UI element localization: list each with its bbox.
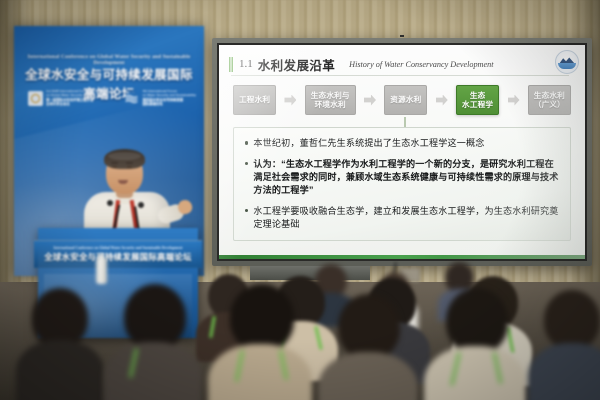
bullet-dot-icon xyxy=(245,162,248,165)
bullet-dot-icon xyxy=(245,141,248,144)
flow-box-4-line-1: 生态 xyxy=(470,91,486,100)
slide-bullet-2: 认为：“生态水工程学作为水利工程学的一个新的分支，是研究水利工程在满足社会需求的… xyxy=(245,158,559,197)
flow-box-5-line-1: 生态水利 xyxy=(534,91,565,100)
slide-section-number: 1.1 xyxy=(239,58,253,70)
standee-logo-row: 1st IAHR International Conference on Glo… xyxy=(28,84,196,112)
podium-name-plate: International Conference on Global Water… xyxy=(34,240,202,268)
flow-box-5: 生态水利 （广义） xyxy=(528,85,571,115)
slide-accent-bottom-bar xyxy=(219,255,585,259)
emblem-water-shape xyxy=(558,63,576,69)
logo1-cn2: 全球水安全会议 xyxy=(46,102,96,107)
flow-arrow-3-icon xyxy=(436,95,448,106)
wave-globe-icon xyxy=(124,91,139,106)
conference-photo: International Conference on Global Water… xyxy=(0,0,600,400)
microphone-head-right xyxy=(138,202,144,208)
flow-arrow-4-icon xyxy=(508,95,520,106)
slide-bullet-1-text: 本世纪初，董哲仁先生系统提出了生态水工程学这一概念 xyxy=(253,137,484,150)
podium-english-title: International Conference on Global Water… xyxy=(53,246,182,250)
flow-box-2: 生态水利与 环境水利 xyxy=(305,85,356,115)
microphone-head-left xyxy=(107,200,113,206)
slide-title: 1.1 水利发展沿革 History of Water Conservancy … xyxy=(229,53,543,75)
slide-bullet-3: 水工程学要吸收融合生态学，建立和发展生态水工程学，为生态水利研究奠定理论基础 xyxy=(245,205,559,231)
flow-box-4-line-2: 水工程学 xyxy=(462,100,493,109)
speaker-brow-right xyxy=(126,162,133,164)
display-inner-bezel: 1.1 水利发展沿革 History of Water Conservancy … xyxy=(217,43,587,261)
presentation-slide: 1.1 水利发展沿革 History of Water Conservancy … xyxy=(219,45,585,259)
flow-box-5-line-2: （广义） xyxy=(534,100,565,109)
square-emblem-icon xyxy=(28,91,43,106)
development-flow-diagram: 工程水利 生态水利与 环境水利 资源水利 生态 水工程学 xyxy=(233,83,571,117)
standee-logo-1: 1st IAHR International Conference on Glo… xyxy=(28,89,96,107)
podium-front-panel xyxy=(44,274,192,338)
title-accent-bar xyxy=(229,57,234,72)
wall-display: 1.1 水利发展沿革 History of Water Conservancy … xyxy=(212,38,592,266)
logo2-en2: on Water Security and Sustainability xyxy=(142,93,196,97)
flow-box-3-line-1: 资源水利 xyxy=(390,95,421,104)
logo2-cn2: 国际高端论坛 xyxy=(142,102,196,107)
standee-logo-1-text: 1st IAHR International Conference on Glo… xyxy=(46,89,96,107)
slide-bullet-2-text: 认为：“生态水工程学作为水利工程学的一个新的分支，是研究水利工程在满足社会需求的… xyxy=(253,158,559,197)
slide-bullet-3-text: 水工程学要吸收融合生态学，建立和发展生态水工程学，为生态水利研究奠定理论基础 xyxy=(253,205,559,231)
slide-bullet-1: 本世纪初，董哲仁先生系统提出了生态水工程学这一概念 xyxy=(245,137,559,150)
flow-box-2-line-2: 环境水利 xyxy=(315,100,346,109)
slide-title-english: History of Water Conservancy Development xyxy=(349,60,493,69)
wall-outlet xyxy=(400,268,420,282)
title-divider xyxy=(231,75,569,76)
mountain-water-emblem-icon xyxy=(555,50,579,74)
flow-box-1-line-1: 工程水利 xyxy=(239,95,270,104)
flow-arrow-2-icon xyxy=(364,95,376,106)
slide-title-chinese: 水利发展沿革 xyxy=(258,55,335,74)
flow-box-3: 资源水利 xyxy=(384,85,427,115)
water-bottle xyxy=(96,258,107,284)
speaker-brow-left xyxy=(111,162,118,164)
speaker-podium: International Conference on Global Water… xyxy=(38,228,198,338)
flow-connector-line xyxy=(404,117,405,127)
flow-box-2-line-1: 生态水利与 xyxy=(311,91,350,100)
slide-content-panel: 本世纪初，董哲仁先生系统提出了生态水工程学这一概念 认为：“生态水工程学作为水利… xyxy=(233,127,571,241)
speaker-eye-right xyxy=(127,166,132,168)
speaker-eye-left xyxy=(112,166,117,168)
flow-box-4-highlighted: 生态 水工程学 xyxy=(456,85,499,115)
podium-chinese-title: 全球水安全与可持续发展国际高端论坛 xyxy=(44,251,191,263)
flow-box-1: 工程水利 xyxy=(233,85,276,115)
display-stand xyxy=(250,266,370,280)
speaker-hair xyxy=(104,149,145,169)
standee-logo-2: 4th International Forum on Water Securit… xyxy=(124,89,196,107)
bullet-dot-icon xyxy=(245,209,248,212)
standee-logo-2-text: 4th International Forum on Water Securit… xyxy=(142,89,196,107)
flow-arrow-1-icon xyxy=(284,95,296,106)
display-power-led xyxy=(400,35,404,37)
